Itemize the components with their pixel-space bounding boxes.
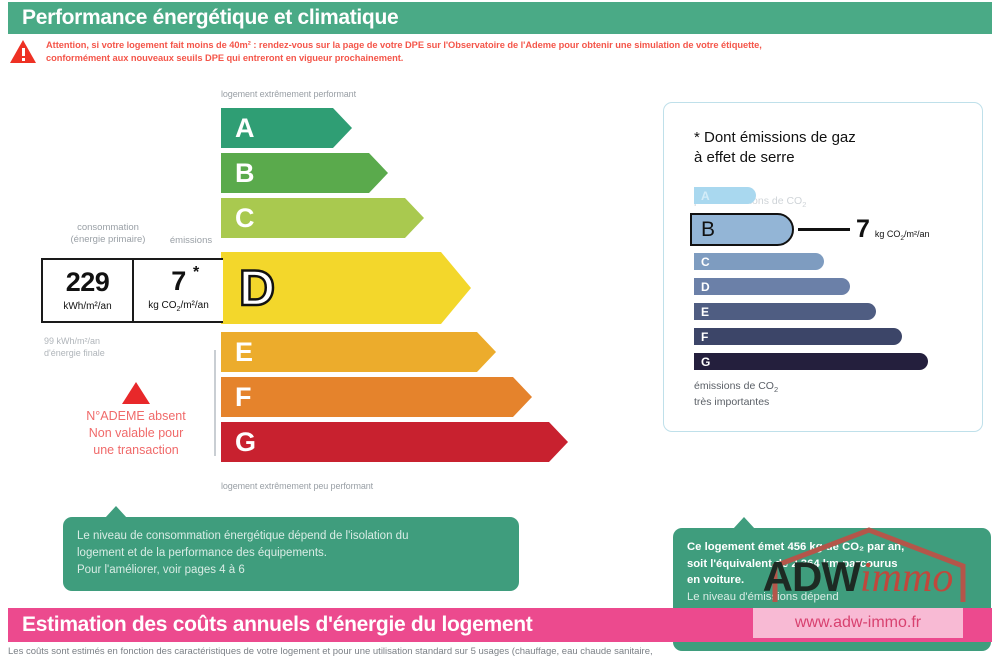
co2-panel: * Dont émissions de gaz à effet de serre… [663,102,983,432]
energy-bar-b: B [221,153,369,193]
co2-bar-f: F [694,328,902,345]
energy-row-d-selected[interactable]: D [221,252,441,324]
co2-caption-bottom: émissions de CO2 très importantes [694,379,778,409]
dpe-page: Performance énergétique et climatique At… [0,0,1000,658]
ademe-warning: N°ADEME absent Non valable pour une tran… [56,382,216,459]
ademe-line-2: Non valable pour [56,425,216,442]
co2-row-f[interactable]: F [694,328,902,345]
energy-row-b[interactable]: B [221,153,369,193]
co2-bar-c: C [694,253,824,270]
co2-bar-b: B [690,213,794,246]
co2-value: 7 [856,215,870,244]
co2-value-group: 7 kg CO2/m²/an [856,215,930,244]
ademe-line-1: N°ADEME absent [56,408,216,425]
final-energy-note: 99 kWh/m²/an d'énergie finale [44,335,105,359]
ladder-caption-bottom: logement extrêmement peu performant [221,481,373,491]
energy-class-chart: logement extrêmement performant A B C D [8,80,568,500]
energy-row-c[interactable]: C [221,198,405,238]
co2-bar-e: E [694,303,876,320]
warning-text: Attention, si votre logement fait moins … [46,38,762,66]
energy-bar-d: D [221,252,441,324]
energy-bar-f: F [221,377,513,417]
logo-url-box[interactable]: www.adw-immo.fr [753,608,963,638]
unit-consumption: kWh/m²/an [63,301,111,312]
co2-row-d[interactable]: D [694,278,850,295]
value-emissions: 7* [171,268,186,295]
co2-bar-d: D [694,278,850,295]
warning-line-1: Attention, si votre logement fait moins … [46,39,762,52]
footer-paragraph: Les coûts sont estimés en fonction des c… [8,645,992,658]
warning-line-2: conformément aux nouveaux seuils DPE qui… [46,52,762,65]
energy-row-g[interactable]: G [221,422,549,462]
co2-row-e[interactable]: E [694,303,876,320]
energy-bar-c: C [221,198,405,238]
warning-banner: Attention, si votre logement fait moins … [10,38,990,74]
co2-row-c[interactable]: C [694,253,824,270]
page-title: Performance énergétique et climatique [22,6,398,30]
label-emissions: émissions [156,235,226,246]
energy-row-e[interactable]: E [221,332,477,372]
footer-title: Estimation des coûts annuels d'énergie d… [22,613,532,637]
ladder-caption-top: logement extrêmement performant [221,89,356,99]
energy-row-a[interactable]: A [221,108,333,148]
co2-row-a[interactable]: A [694,187,756,204]
value-cell-emissions: 7* kg CO2/m²/an [132,260,223,321]
co2-panel-title: * Dont émissions de gaz à effet de serre [694,128,856,169]
logo-brand-accent: immo [860,555,953,601]
energy-bar-a: A [221,108,333,148]
energy-row-f[interactable]: F [221,377,513,417]
unit-emissions: kg CO2/m²/an [148,300,209,313]
value-box: 229 kWh/m²/an 7* kg CO2/m²/an [41,258,223,323]
co2-bar-g: G [694,353,928,370]
callout-left-line-2: logement et de la performance des équipe… [77,545,505,562]
section-header-performance: Performance énergétique et climatique [8,2,992,34]
value-cell-consumption: 229 kWh/m²/an [43,260,132,321]
adw-immo-logo[interactable]: ADWimmo www.adw-immo.fr [733,520,981,640]
callout-left-pointer [105,506,127,518]
logo-wordmark: ADWimmo [743,556,973,599]
callout-left-line-3: Pour l'améliorer, voir pages 4 à 6 [77,562,505,579]
red-triangle-icon [122,382,150,404]
logo-brand-main: ADW [763,553,860,600]
ademe-line-3: une transaction [56,442,216,459]
label-consumption: consommation (énergie primaire) [48,222,168,247]
co2-bar-a: A [694,187,756,204]
co2-unit: kg CO2/m²/an [875,229,930,242]
co2-leader-line [798,228,850,231]
energy-bar-e: E [221,332,477,372]
co2-row-g[interactable]: G [694,353,928,370]
warning-triangle-icon [10,40,36,64]
callout-left-line-1: Le niveau de consommation énergétique dé… [77,528,505,545]
value-consumption: 229 [66,269,110,296]
callout-left: Le niveau de consommation énergétique dé… [63,517,519,591]
energy-bar-g: G [221,422,549,462]
logo-url: www.adw-immo.fr [795,614,921,632]
co2-row-b-selected[interactable]: B [690,213,794,246]
